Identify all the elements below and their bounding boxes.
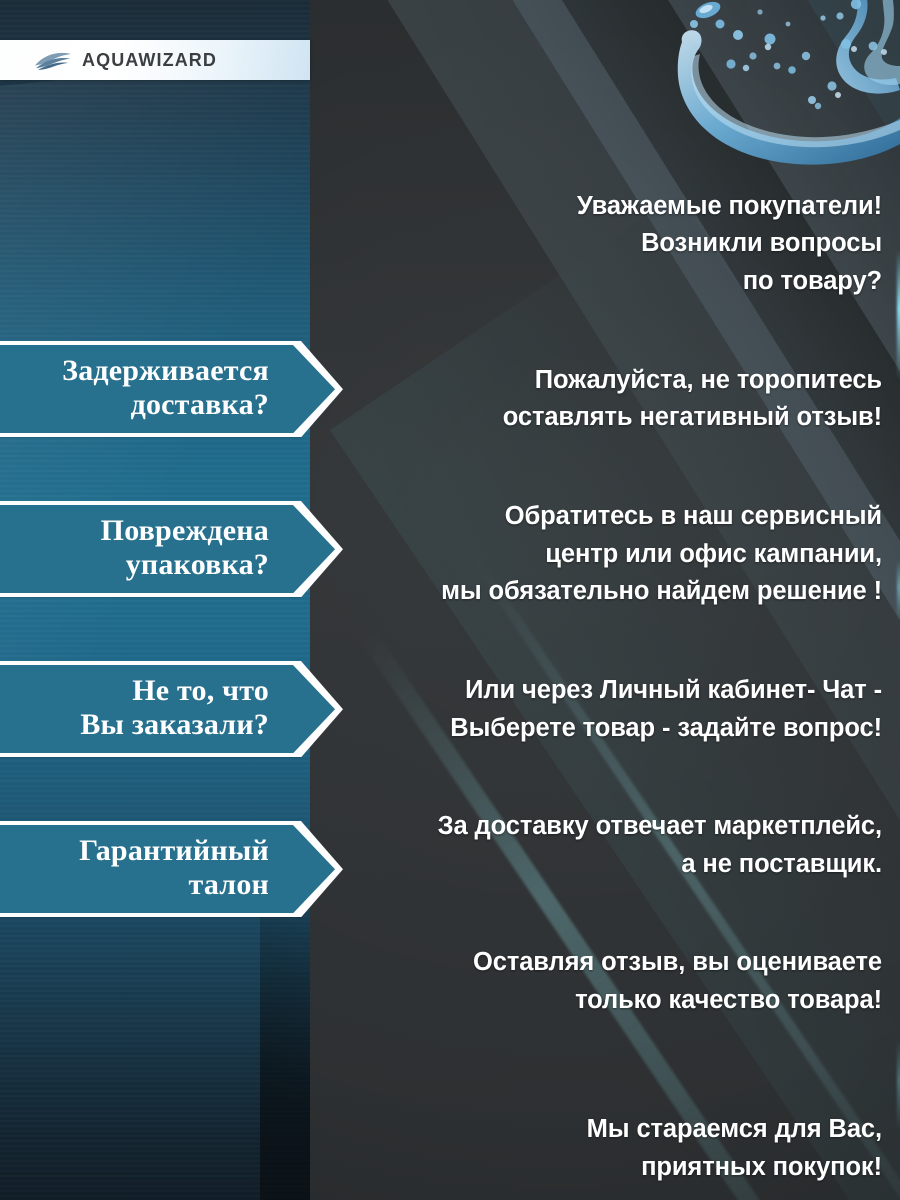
paragraph-closing: Мы стараемся для Вас, приятных покупок! bbox=[330, 1111, 882, 1186]
message-column: Уважаемые покупатели! Возникли вопросы п… bbox=[330, 150, 882, 1200]
paragraph-dont-rush: Пожалуйста, не торопитесь оставлять нега… bbox=[330, 362, 882, 437]
tab-warranty-card-label: Гарантийный талон bbox=[0, 825, 335, 913]
brand-logo-bar: AQUAWIZARD bbox=[0, 40, 310, 80]
tab-damaged-packaging-label: Повреждена упаковка? bbox=[0, 505, 335, 593]
paragraph-marketplace-delivery: За доставку отвечает маркетплейс, а не п… bbox=[330, 808, 882, 883]
paragraph-greeting: Уважаемые покупатели! Возникли вопросы п… bbox=[330, 188, 882, 301]
paragraph-chat-route: Или через Личный кабинет- Чат - Выберете… bbox=[330, 672, 882, 747]
tab-wrong-item[interactable]: Не то, что Вы заказали? bbox=[0, 661, 343, 757]
wave-icon bbox=[34, 50, 72, 70]
water-splash-icon bbox=[670, 0, 900, 169]
paragraph-contact-service: Обратитесь в наш сервисный центр или офи… bbox=[330, 498, 882, 611]
left-brand-panel bbox=[0, 0, 310, 1200]
paragraph-review-quality: Оставляя отзыв, вы оцениваете только кач… bbox=[330, 944, 882, 1019]
brand-name: AQUAWIZARD bbox=[82, 51, 217, 69]
tab-warranty-card[interactable]: Гарантийный талон bbox=[0, 821, 343, 917]
tab-wrong-item-label: Не то, что Вы заказали? bbox=[0, 665, 335, 753]
poster-canvas: AQUAWIZARD Задерживается доставка? Повре… bbox=[0, 0, 900, 1200]
tab-damaged-packaging[interactable]: Повреждена упаковка? bbox=[0, 501, 343, 597]
tab-delivery-delayed-label: Задерживается доставка? bbox=[0, 345, 335, 433]
tab-delivery-delayed[interactable]: Задерживается доставка? bbox=[0, 341, 343, 437]
